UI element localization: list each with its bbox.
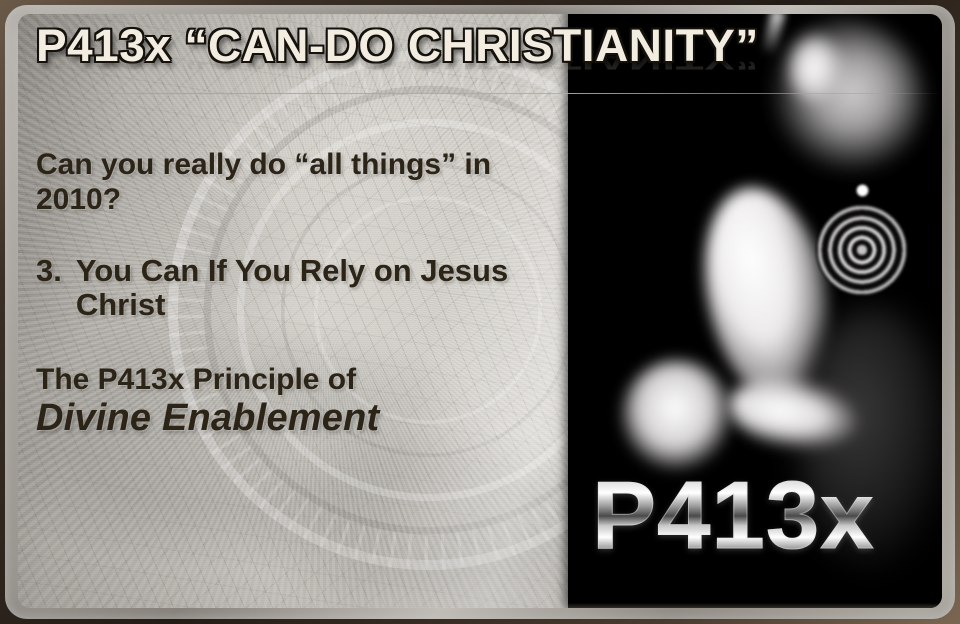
point-number: 3. [36,254,62,323]
point-text: You Can If You Rely on Jesus Christ [76,254,556,323]
title-band: P413x “CAN-DO CHRISTIANITY” P413x “CAN-D… [18,14,942,106]
numbered-point: 3. You Can If You Rely on Jesus Christ [36,254,556,323]
slide-content-stage: P413x P413x “CAN-DO CHRISTIANITY” P413x … [18,14,942,608]
body-content: Can you really do “all things” in 2010? … [36,148,556,439]
presentation-slide: P413x P413x “CAN-DO CHRISTIANITY” P413x … [0,0,960,624]
slide-title: P413x “CAN-DO CHRISTIANITY” [36,20,759,72]
principle-block: The P413x Principle of Divine Enablement [36,363,556,439]
photo-lower-highlight [622,360,732,470]
photo-orb-spark [856,184,869,197]
title-underline-rule [28,93,942,94]
lead-question: Can you really do “all things” in 2010? [36,148,556,218]
p413x-chrome-logo: P413x [592,468,875,564]
panel-bottom-edge [568,603,942,608]
photo-concentric-orb [816,204,908,296]
principle-line-2: Divine Enablement [36,398,556,439]
principle-line-1: The P413x Principle of [36,363,556,396]
